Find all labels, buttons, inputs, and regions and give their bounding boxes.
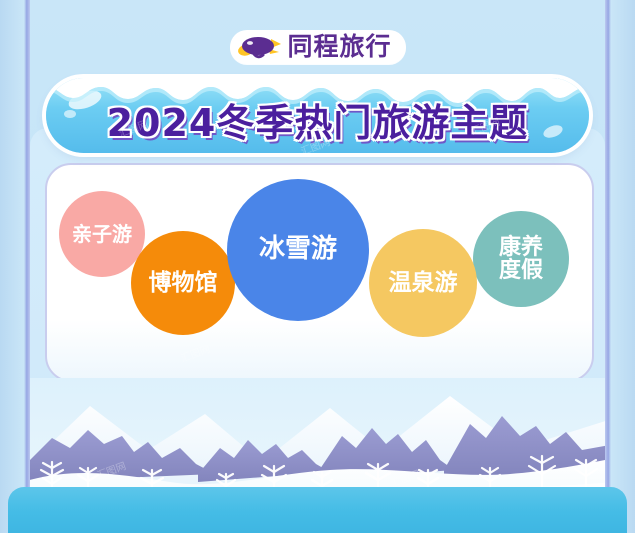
bubble-family-travel[interactable]: 亲子游 xyxy=(59,191,145,277)
poster-canvas: 同程旅行 2024冬季热门旅游主题 亲子游博物馆冰雪游温泉游康养度假 xyxy=(0,0,635,533)
bubble-label: 冰雪游 xyxy=(259,236,337,263)
title-banner: 2024冬季热门旅游主题 xyxy=(46,78,589,153)
bubble-label: 博物馆 xyxy=(149,271,218,295)
frame-line-right xyxy=(605,0,611,533)
page-title: 2024冬季热门旅游主题 xyxy=(46,78,589,153)
theme-bubble-group: 亲子游博物馆冰雪游温泉游康养度假 xyxy=(45,163,590,393)
bubble-hot-spring[interactable]: 温泉游 xyxy=(369,229,477,337)
brand-logo-text: 同程旅行 xyxy=(287,33,391,61)
frame-gradient-left xyxy=(0,0,26,533)
bubble-label: 温泉游 xyxy=(389,271,458,295)
airship-icon xyxy=(237,33,281,61)
snow-mountain-scenery xyxy=(30,378,605,503)
bubble-ice-snow[interactable]: 冰雪游 xyxy=(227,179,369,321)
bubble-label: 康养度假 xyxy=(499,236,543,282)
frame-gradient-right xyxy=(609,0,635,533)
bubble-wellness-vacation[interactable]: 康养度假 xyxy=(473,211,569,307)
brand-logo[interactable]: 同程旅行 xyxy=(229,30,405,64)
bottom-bar xyxy=(8,487,627,533)
bubble-label: 亲子游 xyxy=(72,224,132,245)
bubble-museum[interactable]: 博物馆 xyxy=(131,231,235,335)
